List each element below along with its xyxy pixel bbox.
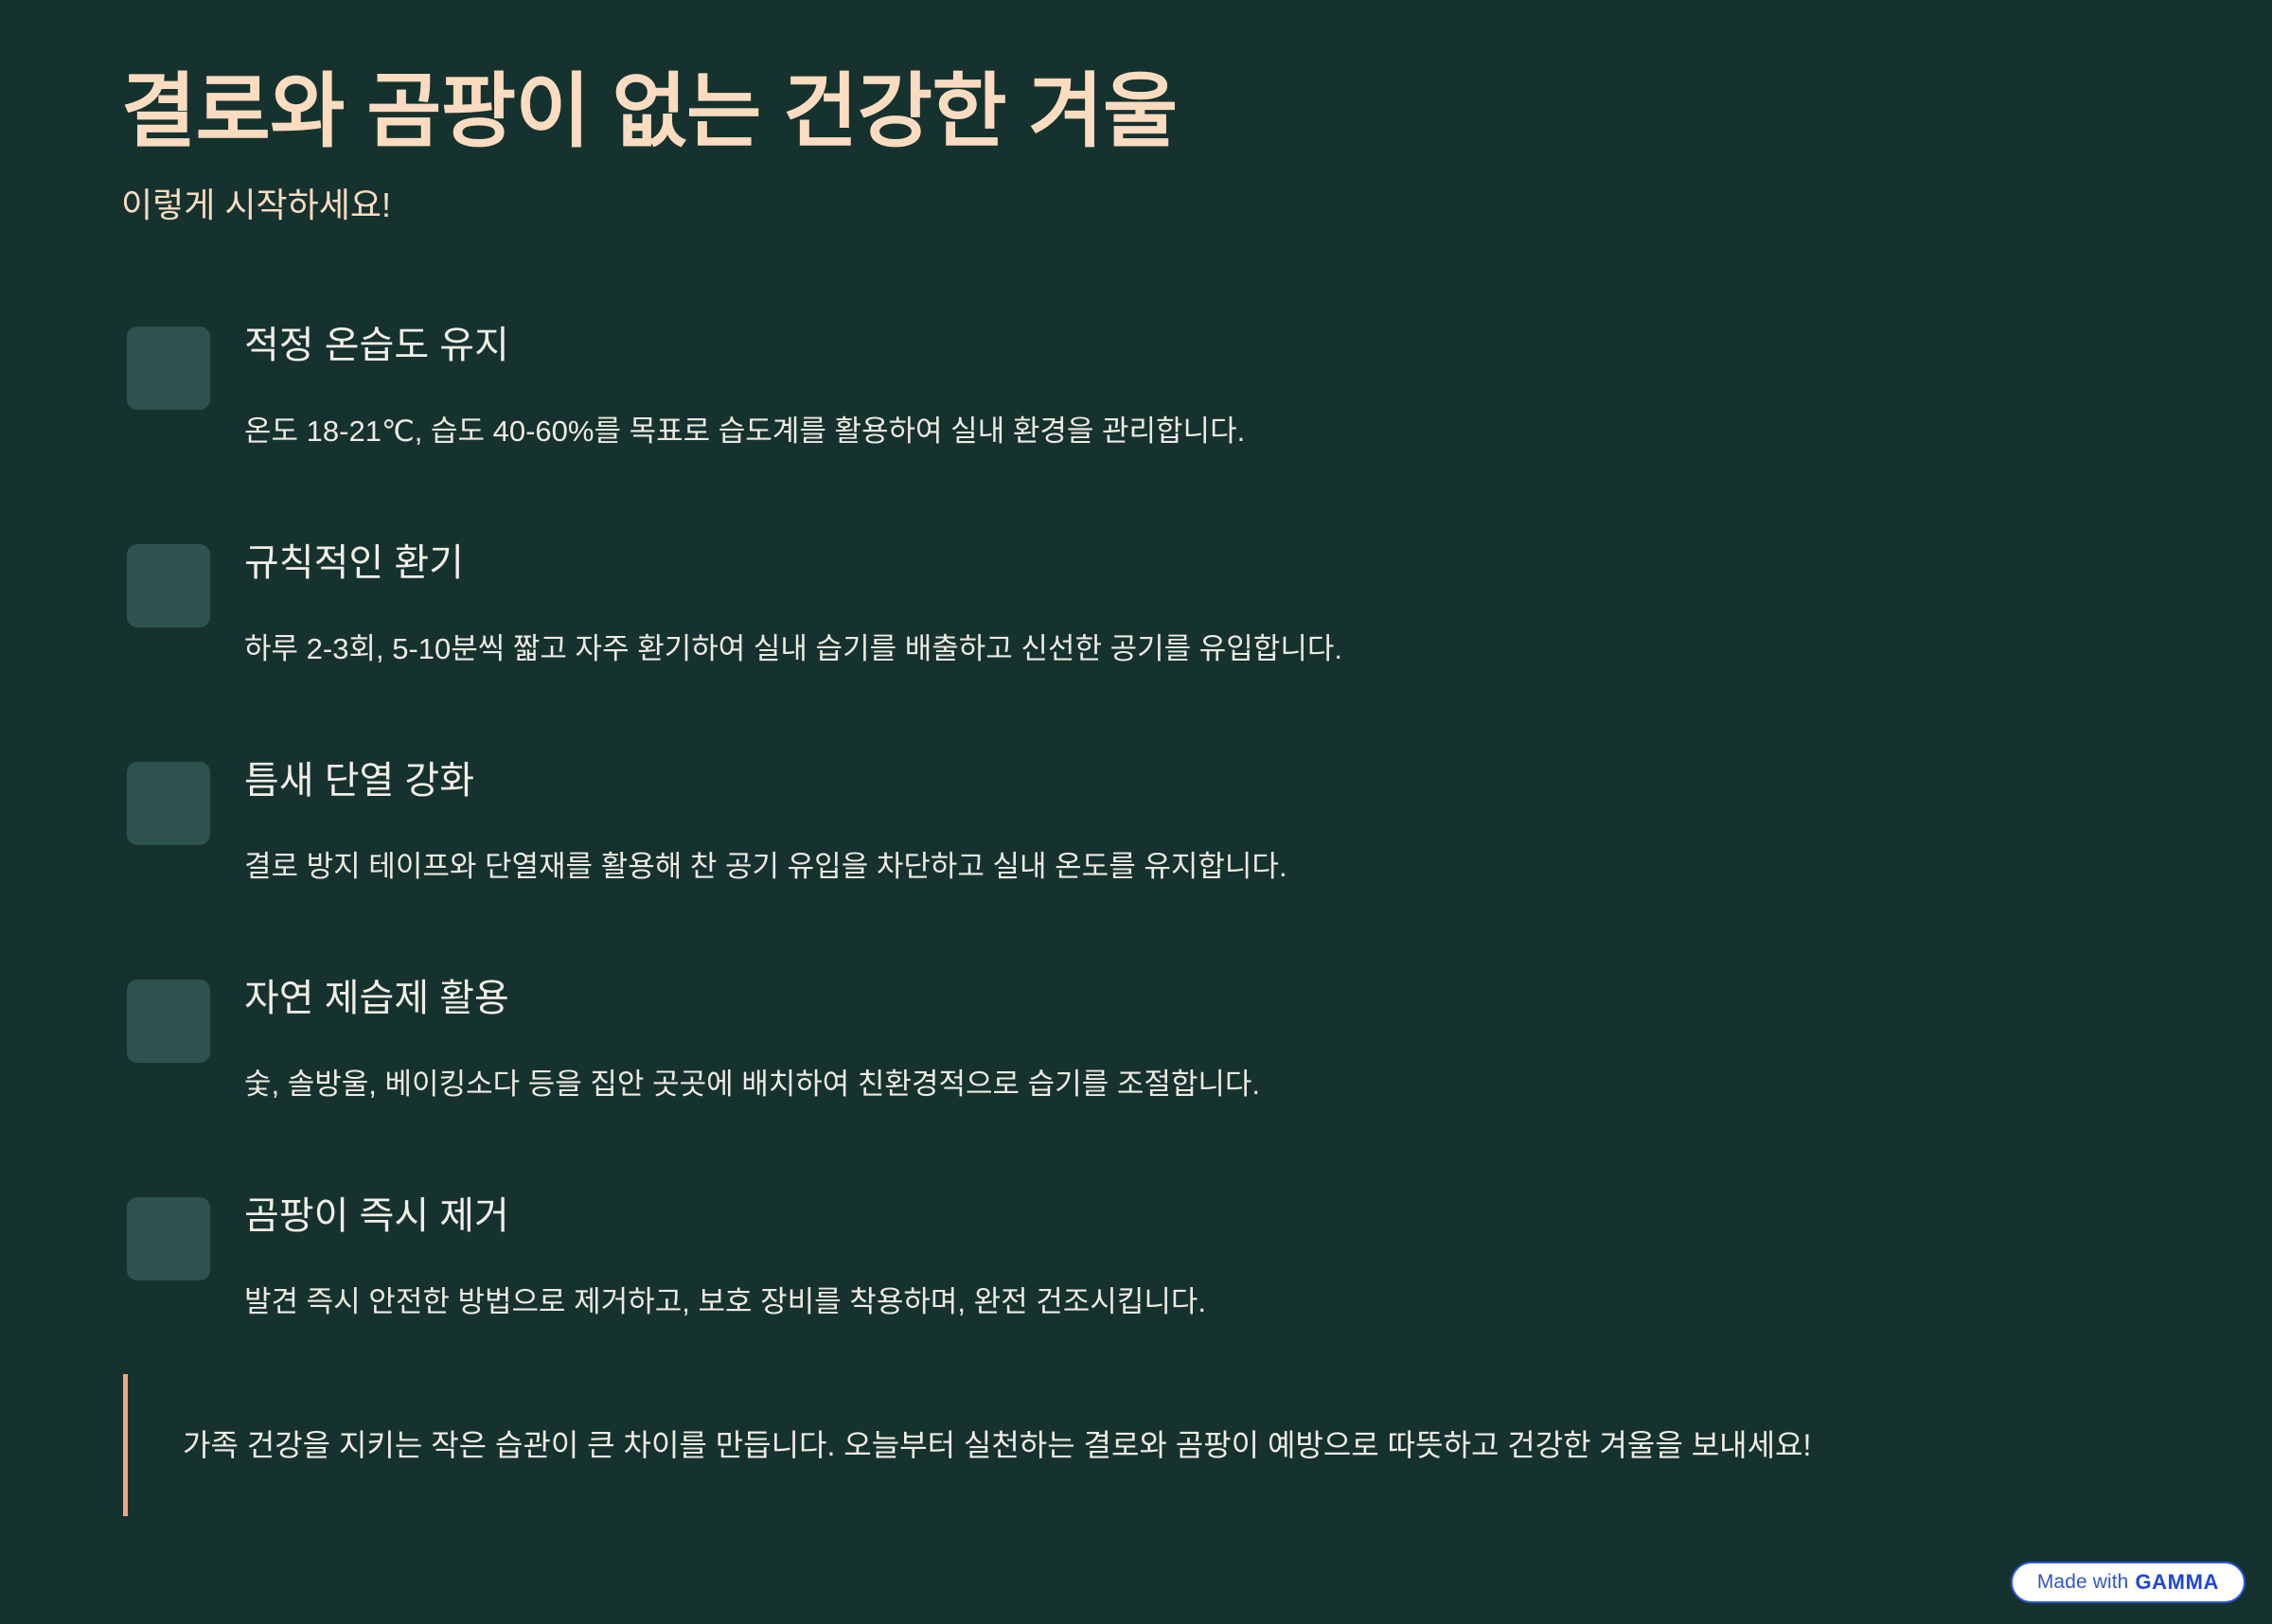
tip-body: 적정 온습도 유지 온도 18-21℃, 습도 40-60%를 목표로 습도계를… <box>244 322 2157 453</box>
slide-header: 결로와 곰팡이 없는 건강한 겨울 이렇게 시작하세요! <box>121 66 2109 228</box>
tips-list: 적정 온습도 유지 온도 18-21℃, 습도 40-60%를 목표로 습도계를… <box>121 322 2157 1410</box>
tip-title: 자연 제습제 활용 <box>244 975 2157 1022</box>
tip-description: 온도 18-21℃, 습도 40-60%를 목표로 습도계를 활용하여 실내 환… <box>244 411 2157 453</box>
square-tile-icon <box>127 327 210 410</box>
tip-title: 틈새 단열 강화 <box>244 757 2157 804</box>
tip-description: 숯, 솔방울, 베이킹소다 등을 집안 곳곳에 배치하여 친환경적으로 습기를 … <box>244 1064 2157 1106</box>
tip-title: 적정 온습도 유지 <box>244 322 2157 369</box>
list-item: 적정 온습도 유지 온도 18-21℃, 습도 40-60%를 목표로 습도계를… <box>121 322 2157 539</box>
tip-description: 하루 2-3회, 5-10분씩 짧고 자주 환기하여 실내 습기를 배출하고 신… <box>244 628 2157 671</box>
page-subtitle: 이렇게 시작하세요! <box>121 184 2109 228</box>
tip-title: 곰팡이 즉시 제거 <box>244 1192 2157 1240</box>
closing-callout: 가족 건강을 지키는 작은 습관이 큰 차이를 만듭니다. 오늘부터 실천하는 … <box>123 1374 2149 1516</box>
square-tile-icon <box>127 980 210 1063</box>
page-title: 결로와 곰팡이 없는 건강한 겨울 <box>121 66 2109 157</box>
tip-body: 자연 제습제 활용 숯, 솔방울, 베이킹소다 등을 집안 곳곳에 배치하여 친… <box>244 975 2157 1106</box>
callout-text: 가족 건강을 지키는 작은 습관이 큰 차이를 만듭니다. 오늘부터 실천하는 … <box>183 1422 1811 1468</box>
tip-body: 곰팡이 즉시 제거 발견 즉시 안전한 방법으로 제거하고, 보호 장비를 착용… <box>244 1192 2157 1324</box>
square-tile-icon <box>127 762 210 845</box>
tip-body: 틈새 단열 강화 결로 방지 테이프와 단열재를 활용해 찬 공기 유입을 차단… <box>244 757 2157 889</box>
tip-title: 규칙적인 환기 <box>244 539 2157 587</box>
gamma-wordmark: GAMMA <box>2135 1570 2219 1595</box>
badge-prefix-label: Made with <box>2037 1571 2129 1594</box>
square-tile-icon <box>127 1197 210 1280</box>
tip-description: 결로 방지 테이프와 단열재를 활용해 찬 공기 유입을 차단하고 실내 온도를… <box>244 846 2157 889</box>
square-tile-icon <box>127 544 210 627</box>
list-item: 자연 제습제 활용 숯, 솔방울, 베이킹소다 등을 집안 곳곳에 배치하여 친… <box>121 975 2157 1192</box>
tip-description: 발견 즉시 안전한 방법으로 제거하고, 보호 장비를 착용하며, 완전 건조시… <box>244 1281 2157 1324</box>
list-item: 틈새 단열 강화 결로 방지 테이프와 단열재를 활용해 찬 공기 유입을 차단… <box>121 757 2157 975</box>
made-with-gamma-badge[interactable]: Made with GAMMA <box>2011 1562 2245 1603</box>
tip-body: 규칙적인 환기 하루 2-3회, 5-10분씩 짧고 자주 환기하여 실내 습기… <box>244 539 2157 671</box>
list-item: 규칙적인 환기 하루 2-3회, 5-10분씩 짧고 자주 환기하여 실내 습기… <box>121 539 2157 757</box>
slide-canvas: 결로와 곰팡이 없는 건강한 겨울 이렇게 시작하세요! 적정 온습도 유지 온… <box>0 0 2272 1624</box>
